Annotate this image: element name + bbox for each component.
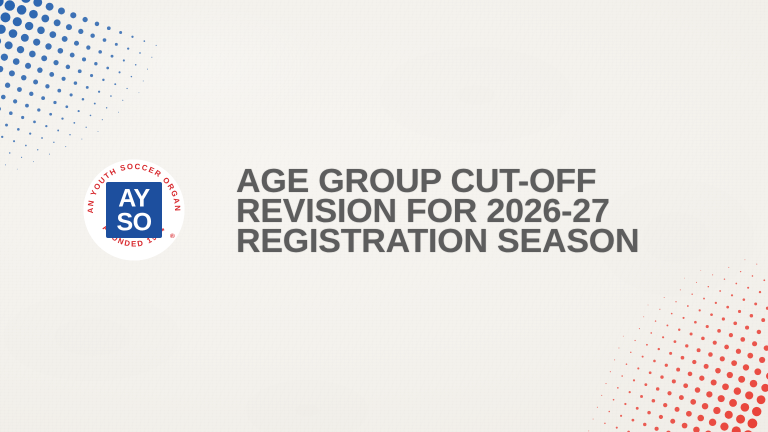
headline-line-3: REGISTRATION SEASON (236, 226, 720, 256)
logo-monogram-bottom: SO (116, 209, 151, 237)
announcement-headline: AGE GROUP CUT-OFF REVISION FOR 2026-27 R… (236, 166, 706, 256)
logo-monogram: AY SO (106, 182, 162, 238)
promo-banner: AMERICAN YOUTH SOCCER ORGANIZATION FOUND… (0, 0, 768, 432)
logo-registered-icon: ® (170, 232, 175, 240)
ayso-logo: AMERICAN YOUTH SOCCER ORGANIZATION FOUND… (82, 158, 186, 262)
